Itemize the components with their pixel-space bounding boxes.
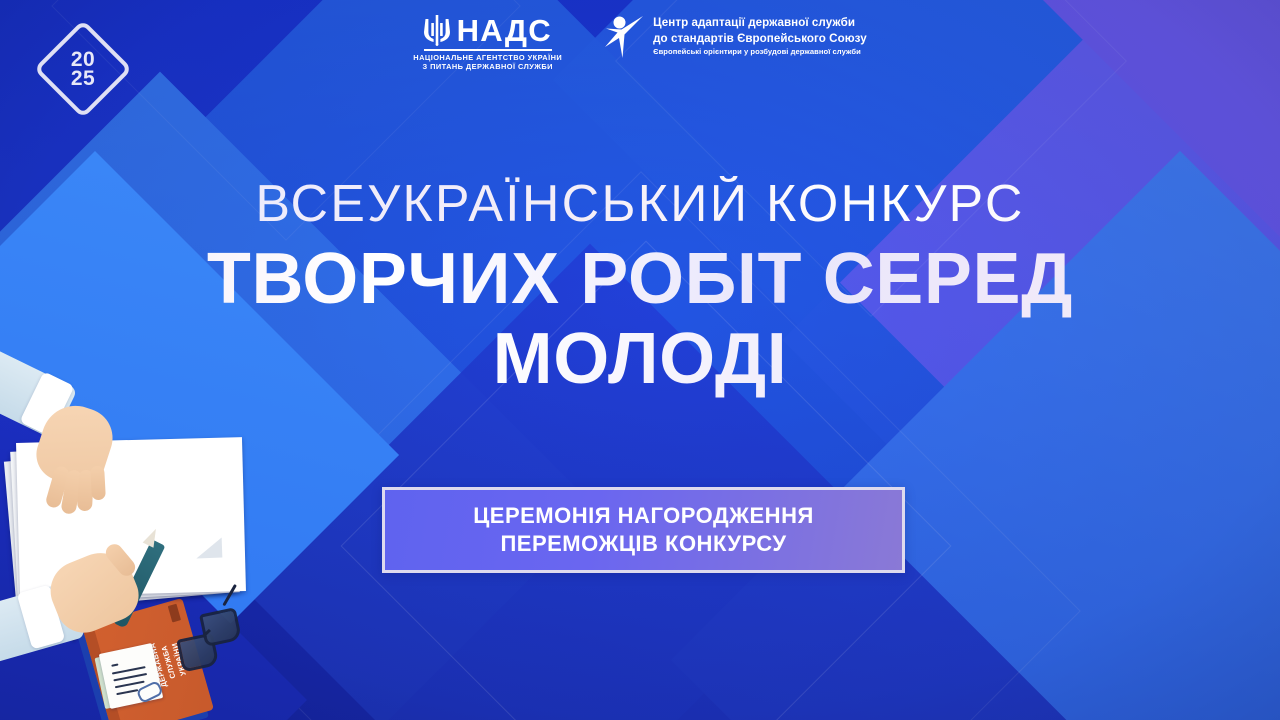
nads-subtitle: НАЦІОНАЛЬНЕ АГЕНТСТВО УКРАЇНИ З ПИТАНЬ Д… <box>413 53 562 73</box>
banner-canvas: ДЕРЖАВНА СЛУЖБА УКРАЇНИ <box>0 0 1280 720</box>
nads-logo: НАДС НАЦІОНАЛЬНЕ АГЕНТСТВО УКРАЇНИ З ПИТ… <box>413 14 562 72</box>
ceremony-line-1: ЦЕРЕМОНІЯ НАГОРОДЖЕННЯ <box>395 502 892 530</box>
nads-subtitle-line2: З ПИТАНЬ ДЕРЖАВНОЇ СЛУЖБИ <box>413 62 562 72</box>
notepad-line <box>111 663 118 666</box>
title-line-1: ВСЕУКРАЇНСЬКИЙ КОНКУРС <box>0 176 1280 232</box>
finger <box>90 466 106 501</box>
title-line-2: ТВОРЧИХ РОБІТ СЕРЕД <box>0 240 1280 319</box>
header-logos: НАДС НАЦІОНАЛЬНЕ АГЕНТСТВО УКРАЇНИ З ПИТ… <box>0 14 1280 72</box>
nads-logo-top: НАДС <box>424 14 552 46</box>
nads-subtitle-line1: НАЦІОНАЛЬНЕ АГЕНТСТВО УКРАЇНИ <box>413 53 562 63</box>
notepad <box>99 643 163 709</box>
nads-acronym: НАДС <box>457 15 552 46</box>
eu-center-logo: Центр адаптації державної служби до стан… <box>604 14 867 58</box>
nads-divider <box>424 49 552 51</box>
eu-center-line1: Центр адаптації державної служби <box>653 15 867 31</box>
eu-center-text: Центр адаптації державної служби до стан… <box>653 14 867 57</box>
lens-right <box>199 607 242 647</box>
ceremony-line-2: ПЕРЕМОЖЦІВ КОНКУРСУ <box>395 530 892 558</box>
star-person-icon <box>604 14 644 58</box>
notepad-line <box>116 689 138 695</box>
title-line-3: МОЛОДІ <box>0 319 1280 400</box>
ceremony-banner: ЦЕРЕМОНІЯ НАГОРОДЖЕННЯ ПЕРЕМОЖЦІВ КОНКУР… <box>382 487 905 573</box>
eu-center-tagline: Європейські орієнтири у розбудові держав… <box>653 46 867 57</box>
trident-icon <box>424 14 450 46</box>
paper-corner-fold <box>196 538 223 559</box>
main-title: ВСЕУКРАЇНСЬКИЙ КОНКУРС ТВОРЧИХ РОБІТ СЕР… <box>0 176 1280 400</box>
notepad-front-sheet <box>99 643 163 709</box>
eu-center-line2: до стандартів Європейського Союзу <box>653 31 867 47</box>
